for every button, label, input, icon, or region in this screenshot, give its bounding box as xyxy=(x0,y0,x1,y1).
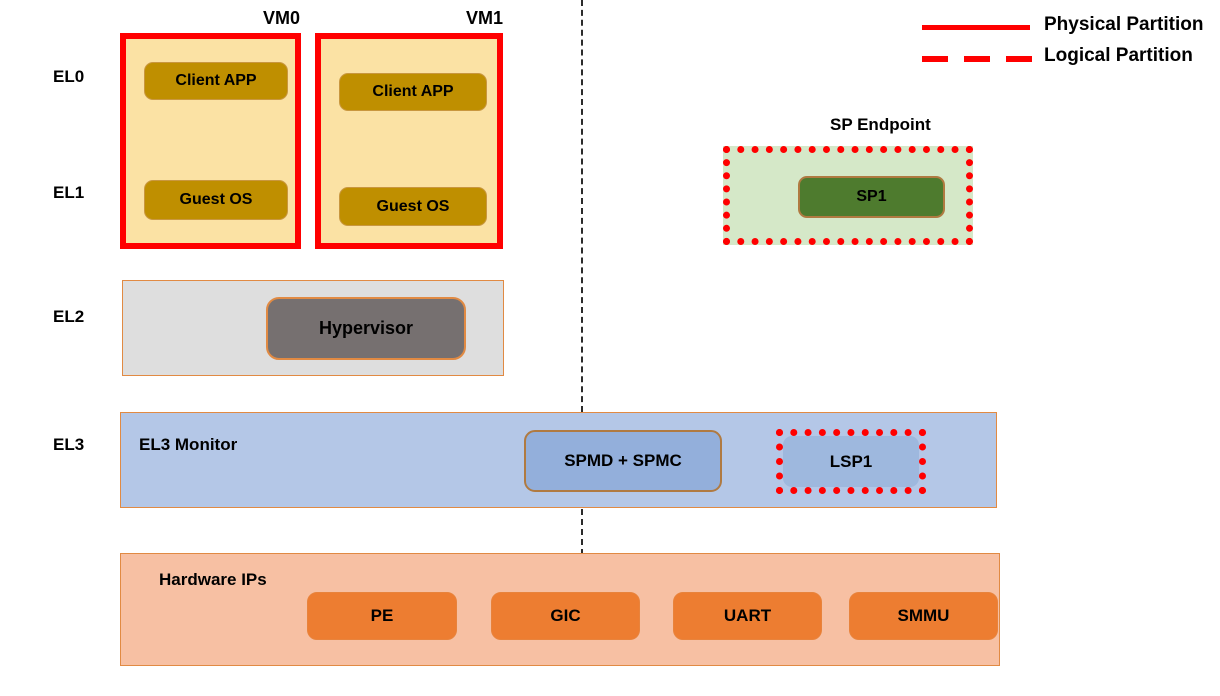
legend-logical-partition-swatch xyxy=(922,56,1032,62)
hardware-ips-band: Hardware IPs PE GIC UART SMMU xyxy=(120,553,1000,666)
vm0-guest-os-node[interactable]: Guest OS xyxy=(144,180,288,220)
hardware-node-uart[interactable]: UART xyxy=(673,592,822,640)
hardware-ips-label: Hardware IPs xyxy=(159,570,267,590)
lsp1-node[interactable]: LSP1 xyxy=(783,436,919,487)
hypervisor-node[interactable]: Hypervisor xyxy=(266,297,466,360)
vm1-client-app-node[interactable]: Client APP xyxy=(339,73,487,111)
sp1-node[interactable]: SP1 xyxy=(798,176,945,218)
sp-endpoint-title: SP Endpoint xyxy=(830,115,931,135)
exception-level-label-el3: EL3 xyxy=(53,435,84,455)
legend-physical-partition-swatch xyxy=(922,25,1030,30)
hardware-node-smmu[interactable]: SMMU xyxy=(849,592,998,640)
vm0-client-app-node[interactable]: Client APP xyxy=(144,62,288,100)
vm1-physical-partition[interactable]: Client APP Guest OS xyxy=(315,33,503,249)
sp-endpoint-logical-partition[interactable]: SP1 xyxy=(723,146,973,245)
hardware-node-pe[interactable]: PE xyxy=(307,592,457,640)
vm1-guest-os-node[interactable]: Guest OS xyxy=(339,187,487,226)
secure-world-divider-lower xyxy=(581,509,583,555)
exception-level-label-el0: EL0 xyxy=(53,67,84,87)
legend-physical-partition-label: Physical Partition xyxy=(1044,14,1203,36)
el2-band: Hypervisor xyxy=(122,280,504,376)
legend-logical-partition-label: Logical Partition xyxy=(1044,45,1193,67)
hardware-node-gic[interactable]: GIC xyxy=(491,592,640,640)
secure-world-divider-upper xyxy=(581,0,583,412)
el3-band: EL3 Monitor SPMD + SPMC LSP1 xyxy=(120,412,997,508)
el3-monitor-label: EL3 Monitor xyxy=(139,435,237,455)
lsp1-logical-partition[interactable]: LSP1 xyxy=(776,429,926,494)
exception-level-label-el2: EL2 xyxy=(53,307,84,327)
exception-level-label-el1: EL1 xyxy=(53,183,84,203)
spmd-spmc-node[interactable]: SPMD + SPMC xyxy=(524,430,722,492)
diagram-canvas: EL0 EL1 EL2 EL3 VM0 Client APP Guest OS … xyxy=(0,0,1220,696)
vm0-physical-partition[interactable]: Client APP Guest OS xyxy=(120,33,301,249)
vm1-title: VM1 xyxy=(363,8,503,29)
vm0-title: VM0 xyxy=(160,8,300,29)
